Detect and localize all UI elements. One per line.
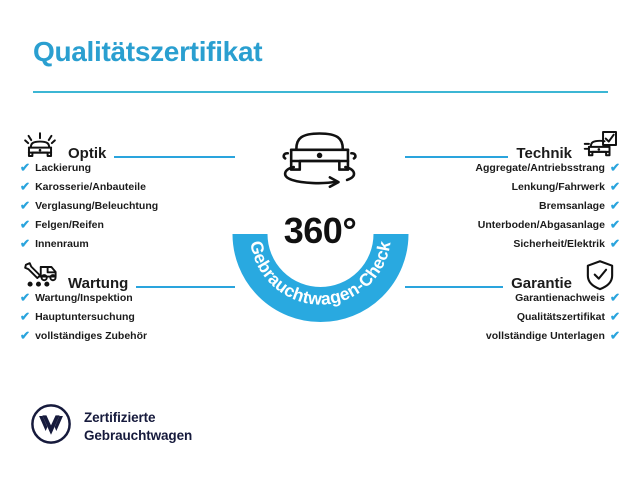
section-optik: Optik ✔Lackierung ✔Karosserie/Anbauteile… — [20, 128, 235, 257]
check-icon: ✔ — [610, 200, 620, 212]
page-title: Qualitätszertifikat — [33, 36, 262, 68]
list-item-label: Wartung/Inspektion — [35, 293, 133, 304]
badge-center-label: 360° — [284, 210, 356, 251]
list-item-label: Garantienachweis — [515, 293, 605, 304]
list-item-label: Felgen/Reifen — [35, 220, 104, 231]
footer-brand-text: Zertifizierte Gebrauchtwagen — [84, 409, 192, 444]
list-item-label: Qualitätszertifikat — [517, 312, 605, 323]
section-technik-header: Technik — [405, 128, 620, 162]
list-item-label: Hauptuntersuchung — [35, 312, 135, 323]
check-icon: ✔ — [20, 219, 30, 231]
list-item: ✔Innenraum — [20, 238, 235, 250]
list-item: ✔vollständiges Zubehör — [20, 330, 235, 342]
list-item-label: vollständige Unterlagen — [486, 331, 605, 342]
car-checkbox-icon — [580, 128, 620, 162]
check-icon: ✔ — [20, 330, 30, 342]
section-optik-divider — [114, 156, 235, 158]
shield-check-icon — [580, 258, 620, 292]
car-shine-icon — [20, 128, 60, 162]
list-item-label: Lenkung/Fahrwerk — [512, 182, 605, 193]
list-item-label: Verglasung/Beleuchtung — [35, 201, 158, 212]
section-technik-title: Technik — [516, 146, 572, 162]
check-icon: ✔ — [20, 311, 30, 323]
list-item-label: Lackierung — [35, 163, 91, 174]
vw-roundel-icon — [30, 403, 72, 450]
check-icon: ✔ — [610, 311, 620, 323]
check-icon: ✔ — [20, 181, 30, 193]
list-item: ✔Felgen/Reifen — [20, 219, 235, 231]
list-item: ✔Qualitätszertifikat — [517, 311, 620, 323]
footer-brand: Zertifizierte Gebrauchtwagen — [30, 403, 192, 450]
check-icon: ✔ — [20, 162, 30, 174]
section-wartung: Wartung ✔Wartung/Inspektion ✔Hauptunters… — [20, 258, 235, 349]
list-item-label: Innenraum — [35, 239, 89, 250]
section-optik-header: Optik — [20, 128, 235, 162]
section-wartung-title: Wartung — [68, 276, 128, 292]
list-item: ✔Bremsanlage — [539, 200, 620, 212]
check-icon: ✔ — [610, 181, 620, 193]
header-divider — [33, 91, 608, 93]
check-icon: ✔ — [610, 292, 620, 304]
wrench-car-icon — [20, 258, 60, 292]
section-technik-list: ✔Aggregate/Antriebsstrang ✔Lenkung/Fahrw… — [405, 162, 620, 257]
list-item: ✔Karosserie/Anbauteile — [20, 181, 235, 193]
check-icon: ✔ — [610, 330, 620, 342]
list-item: ✔Garantienachweis — [515, 292, 620, 304]
list-item-label: Aggregate/Antriebsstrang — [475, 163, 605, 174]
section-garantie: Garantie ✔Garantienachweis ✔Qualitätszer… — [405, 258, 620, 349]
badge-360-gebrauchtwagen-check: Gebrauchtwagen-Check 360° — [218, 110, 423, 325]
car-rotate-360-icon — [284, 133, 356, 186]
check-icon: ✔ — [610, 219, 620, 231]
list-item: ✔Unterboden/Abgasanlage — [478, 219, 620, 231]
list-item: ✔vollständige Unterlagen — [486, 330, 620, 342]
check-icon: ✔ — [20, 200, 30, 212]
list-item-label: vollständiges Zubehör — [35, 331, 147, 342]
section-garantie-title: Garantie — [511, 276, 572, 292]
section-technik: Technik ✔Aggregate/Antriebsstrang ✔Lenku… — [405, 128, 620, 257]
check-icon: ✔ — [610, 162, 620, 174]
certificate-page: Qualitätszertifikat — [0, 0, 640, 480]
section-garantie-list: ✔Garantienachweis ✔Qualitätszertifikat ✔… — [405, 292, 620, 349]
list-item: ✔Verglasung/Beleuchtung — [20, 200, 235, 212]
list-item-label: Karosserie/Anbauteile — [35, 182, 146, 193]
footer-line-1: Zertifizierte — [84, 409, 192, 426]
footer-line-2: Gebrauchtwagen — [84, 427, 192, 444]
section-optik-title: Optik — [68, 146, 106, 162]
list-item-label: Unterboden/Abgasanlage — [478, 220, 605, 231]
list-item: ✔Wartung/Inspektion — [20, 292, 235, 304]
check-icon: ✔ — [20, 238, 30, 250]
section-optik-list: ✔Lackierung ✔Karosserie/Anbauteile ✔Verg… — [20, 162, 235, 250]
list-item: ✔Hauptuntersuchung — [20, 311, 235, 323]
list-item: ✔Sicherheit/Elektrik — [513, 238, 620, 250]
section-wartung-header: Wartung — [20, 258, 235, 292]
list-item: ✔Lackierung — [20, 162, 235, 174]
list-item: ✔Lenkung/Fahrwerk — [512, 181, 620, 193]
check-icon: ✔ — [20, 292, 30, 304]
check-icon: ✔ — [610, 238, 620, 250]
section-wartung-list: ✔Wartung/Inspektion ✔Hauptuntersuchung ✔… — [20, 292, 235, 342]
list-item-label: Bremsanlage — [539, 201, 605, 212]
section-garantie-header: Garantie — [405, 258, 620, 292]
list-item: ✔Aggregate/Antriebsstrang — [475, 162, 620, 174]
list-item-label: Sicherheit/Elektrik — [513, 239, 605, 250]
